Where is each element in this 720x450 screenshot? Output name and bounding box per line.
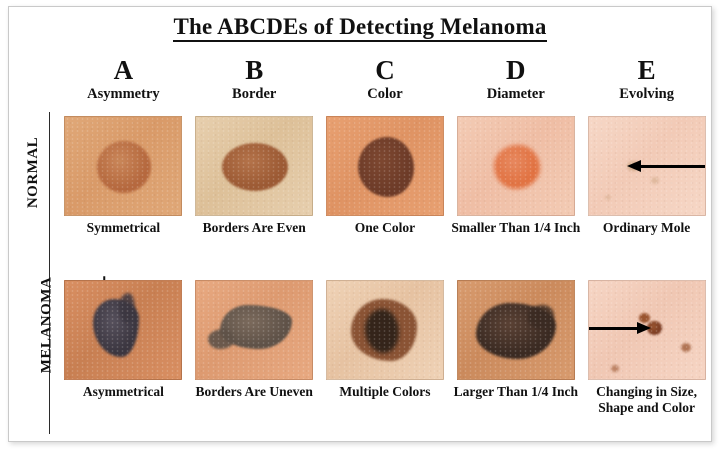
cell-normal-border: Borders Are Even xyxy=(189,116,320,236)
arrow-head xyxy=(627,160,641,172)
row-label-melanoma: MELANOMA xyxy=(0,268,46,378)
column-header-row: A Asymmetry B Border C Color D Diameter … xyxy=(58,55,712,103)
caption-melanoma-asymmetry: Asymmetrical xyxy=(58,384,188,400)
cell-normal-diameter: Smaller Than 1/4 Inch xyxy=(450,116,581,236)
column-word-d: Diameter xyxy=(450,86,581,103)
comparison-grid: Symmetrical Borders Are Even One Color xyxy=(58,116,712,416)
lesion-normal-diameter xyxy=(494,145,540,189)
lesion-melanoma-evolving-lobe xyxy=(639,313,650,323)
column-letter-e: E xyxy=(581,55,712,85)
caption-normal-asymmetry: Symmetrical xyxy=(58,220,188,236)
caption-normal-diameter: Smaller Than 1/4 Inch xyxy=(451,220,581,236)
cell-melanoma-diameter: Larger Than 1/4 Inch xyxy=(450,280,581,416)
arrow-shaft xyxy=(588,327,637,330)
column-header-e: E Evolving xyxy=(581,55,712,103)
arrow-head xyxy=(637,322,651,334)
caption-melanoma-evolving: Changing in Size, Shape and Color xyxy=(582,384,712,416)
lesion-melanoma-asymmetry xyxy=(93,299,139,357)
page-title-text: The ABCDEs of Detecting Melanoma xyxy=(173,14,546,42)
melanoma-abcde-poster: The ABCDEs of Detecting Melanoma A Asymm… xyxy=(0,0,720,450)
column-header-b: B Border xyxy=(189,55,320,103)
normal-row: Symmetrical Borders Are Even One Color xyxy=(58,116,712,236)
photo-normal-evolving xyxy=(588,116,706,216)
melanoma-row: Asymmetrical Borders Are Uneven Multiple… xyxy=(58,280,712,416)
caption-normal-border: Borders Are Even xyxy=(189,220,319,236)
freckle-normal-evolving-2 xyxy=(605,195,611,200)
column-letter-a: A xyxy=(58,55,189,85)
caption-melanoma-border: Borders Are Uneven xyxy=(189,384,319,400)
cell-melanoma-border: Borders Are Uneven xyxy=(189,280,320,416)
lesion-normal-asymmetry xyxy=(97,141,151,193)
photo-normal-color xyxy=(326,116,444,216)
photo-melanoma-diameter xyxy=(457,280,575,380)
freckle-melanoma-evolving-2 xyxy=(611,365,619,372)
cell-normal-asymmetry: Symmetrical xyxy=(58,116,189,236)
cell-normal-color: One Color xyxy=(320,116,451,236)
column-letter-b: B xyxy=(189,55,320,85)
photo-melanoma-asymmetry xyxy=(64,280,182,380)
lesion-melanoma-color xyxy=(351,299,417,361)
column-letter-d: D xyxy=(450,55,581,85)
freckle-melanoma-evolving-1 xyxy=(681,343,691,352)
page-title: The ABCDEs of Detecting Melanoma xyxy=(0,14,720,40)
lesion-normal-color xyxy=(358,137,414,197)
cell-melanoma-color: Multiple Colors xyxy=(320,280,451,416)
cell-normal-evolving: Ordinary Mole xyxy=(581,116,712,236)
lesion-melanoma-asymmetry-lobe xyxy=(119,293,135,323)
lesion-melanoma-diameter-satellite xyxy=(528,305,554,329)
cell-melanoma-asymmetry: Asymmetrical xyxy=(58,280,189,416)
column-word-e: Evolving xyxy=(581,86,712,103)
photo-normal-border xyxy=(195,116,313,216)
column-letter-c: C xyxy=(320,55,451,85)
column-header-d: D Diameter xyxy=(450,55,581,103)
caption-normal-evolving: Ordinary Mole xyxy=(582,220,712,236)
row-label-normal: NORMAL xyxy=(0,118,46,223)
lesion-melanoma-evolving xyxy=(647,321,662,335)
cell-melanoma-evolving: Changing in Size, Shape and Color xyxy=(581,280,712,416)
column-word-c: Color xyxy=(320,86,451,103)
photo-normal-diameter xyxy=(457,116,575,216)
lesion-melanoma-color-core xyxy=(365,309,399,353)
column-word-a: Asymmetry xyxy=(58,86,189,103)
lesion-normal-evolving xyxy=(627,161,640,171)
photo-melanoma-evolving xyxy=(588,280,706,380)
column-header-c: C Color xyxy=(320,55,451,103)
lesion-normal-border xyxy=(222,143,288,191)
column-header-a: A Asymmetry xyxy=(58,55,189,103)
photo-normal-asymmetry xyxy=(64,116,182,216)
freckle-normal-evolving-1 xyxy=(651,177,659,184)
lesion-melanoma-border xyxy=(220,305,292,349)
lesion-melanoma-diameter xyxy=(476,303,556,359)
arrow-shaft xyxy=(641,165,706,168)
photo-melanoma-border xyxy=(195,280,313,380)
photo-melanoma-color xyxy=(326,280,444,380)
caption-melanoma-diameter: Larger Than 1/4 Inch xyxy=(451,384,581,400)
column-word-b: Border xyxy=(189,86,320,103)
caption-normal-color: One Color xyxy=(320,220,450,236)
lesion-melanoma-border-tail xyxy=(208,329,234,349)
caption-melanoma-color: Multiple Colors xyxy=(320,384,450,400)
